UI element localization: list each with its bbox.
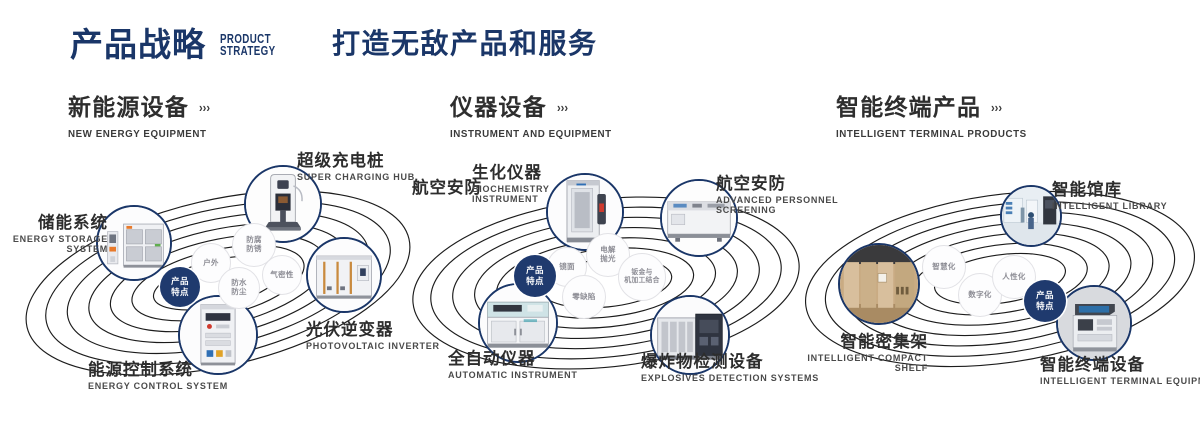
caption-en-line2: INSTRUMENT — [472, 195, 550, 205]
headline: 打造无敌产品和服务 — [332, 30, 598, 58]
caption-cn: 智能密集架 — [788, 334, 928, 352]
core-label-line1: 产品 — [1036, 290, 1054, 301]
energy-storage-cabinet-icon — [98, 207, 170, 279]
chevron-right-icon: ››› — [199, 101, 210, 114]
feature-label: 抛光 — [600, 255, 616, 264]
brand-en-line2: STRATEGY — [220, 45, 275, 58]
caption-biochemistry-instrument: 生化仪器 BIOCHEMISTRY INSTRUMENT — [472, 165, 550, 204]
feature-label: 气密性 — [270, 271, 293, 280]
caption-en-line1: INTELLIGENT TERMINAL EQUIPMENT — [1040, 377, 1200, 387]
section-heading-new-energy: 新能源设备 ››› NEW ENERGY EQUIPMENT — [68, 96, 217, 140]
caption-cn: 生化仪器 — [472, 165, 550, 183]
core-label-line2: 特点 — [171, 287, 189, 298]
section-title-en: NEW ENERGY EQUIPMENT — [68, 128, 206, 140]
feature-label: 防锈 — [246, 245, 262, 254]
feature-bubble: 零缺陷 — [562, 275, 606, 319]
feature-bubble: 防水 防尘 — [218, 267, 260, 309]
section-title-en: INTELLIGENT TERMINAL PRODUCTS — [836, 128, 1027, 140]
caption-en-line1: ENERGY CONTROL SYSTEM — [88, 382, 228, 392]
node-photovoltaic-inverter[interactable] — [306, 237, 382, 313]
caption-cn: 能源控制系统 — [88, 362, 228, 380]
caption-cn: 超级充电桩 — [297, 153, 415, 171]
node-intelligent-terminal-equipment[interactable] — [1056, 285, 1132, 361]
section-heading-intelligent-terminal: 智能终端产品 ››› INTELLIGENT TERMINAL PRODUCTS — [836, 96, 1041, 140]
caption-cn: 智能终端设备 — [1040, 357, 1200, 375]
compact-shelf-icon — [840, 245, 918, 323]
caption-en-line1: EXPLOSIVES DETECTION SYSTEMS — [641, 374, 819, 384]
feature-label: 户外 — [203, 259, 219, 268]
section-title-en: INSTRUMENT AND EQUIPMENT — [450, 128, 612, 140]
caption-cn: 储能系统 — [0, 215, 108, 233]
core-label-line1: 产品 — [526, 265, 544, 276]
node-intelligent-compact-shelf[interactable] — [838, 243, 920, 325]
feature-label: 零缺陷 — [572, 293, 595, 302]
core-label-line1: 产品 — [171, 276, 189, 287]
feature-bubble: 智慧化 — [922, 245, 966, 289]
brand-title-en: PRODUCT STRATEGY — [220, 33, 275, 62]
caption-cn: 智能馆库 — [1052, 182, 1167, 200]
self-service-kiosk-icon — [1058, 287, 1130, 359]
caption-automatic-instrument: 全自动仪器 AUTOMATIC INSTRUMENT — [448, 351, 578, 381]
feature-bubble: 钣金与 机加工结合 — [618, 253, 666, 301]
chevron-right-icon: ››› — [557, 101, 568, 114]
feature-label: 数字化 — [968, 291, 991, 300]
caption-en-line2: SHELF — [788, 364, 928, 374]
core-bubble-product-features: 产品 特点 — [160, 267, 200, 307]
section-title-cn: 新能源设备 — [68, 96, 189, 119]
caption-intelligent-library: 智能馆库 INTELLIGENT LIBRARY — [1052, 182, 1167, 212]
masthead: 产品战略 PRODUCT STRATEGY — [70, 28, 291, 61]
chevron-right-icon: ››› — [991, 101, 1002, 114]
feature-label: 防尘 — [231, 288, 247, 297]
section-heading-row: 智能终端产品 ››› — [836, 96, 1041, 119]
caption-en-line1: AUTOMATIC INSTRUMENT — [448, 371, 578, 381]
caption-en-line1: SUPER CHARGING HUB — [297, 173, 415, 183]
pv-inverter-icon — [308, 239, 380, 311]
core-bubble-product-features: 产品 特点 — [1024, 280, 1066, 322]
caption-energy-storage-system: 储能系统 ENERGY STORAGE SYSTEM — [0, 215, 108, 254]
caption-super-charging-hub: 超级充电桩 SUPER CHARGING HUB — [297, 153, 415, 183]
caption-en-line1: INTELLIGENT LIBRARY — [1052, 202, 1167, 212]
section-title-cn: 智能终端产品 — [836, 96, 981, 119]
caption-cn: 全自动仪器 — [448, 351, 578, 369]
section-heading-instruments: 仪器设备 ››› INSTRUMENT AND EQUIPMENT — [450, 96, 624, 140]
feature-label: 智慧化 — [932, 263, 955, 272]
feature-label: 人性化 — [1002, 273, 1025, 282]
brand-title-cn: 产品战略 — [70, 28, 206, 61]
core-bubble-product-features: 产品 特点 — [514, 255, 556, 297]
feature-bubble: 气密性 — [262, 255, 302, 295]
feature-label: 机加工结合 — [624, 277, 659, 285]
section-heading-row: 仪器设备 ››› — [450, 96, 624, 119]
caption-energy-control-system: 能源控制系统 ENERGY CONTROL SYSTEM — [88, 362, 228, 392]
core-label-line2: 特点 — [1036, 301, 1054, 312]
core-label-line2: 特点 — [526, 276, 544, 287]
caption-intelligent-terminal-equipment: 智能终端设备 INTELLIGENT TERMINAL EQUIPMENT — [1040, 357, 1200, 387]
product-strategy-infographic: 产品战略 PRODUCT STRATEGY 打造无敌产品和服务 新能源设备 ››… — [0, 0, 1200, 422]
feature-label: 镜面 — [559, 263, 575, 272]
caption-en-line2: SYSTEM — [0, 245, 108, 255]
section-title-cn: 仪器设备 — [450, 96, 547, 119]
feature-label: 钣金与 — [631, 269, 652, 277]
caption-intelligent-compact-shelf: 智能密集架 INTELLIGENT COMPACT SHELF — [788, 334, 928, 373]
section-heading-row: 新能源设备 ››› — [68, 96, 217, 119]
brand-en-line1: PRODUCT — [220, 33, 275, 46]
